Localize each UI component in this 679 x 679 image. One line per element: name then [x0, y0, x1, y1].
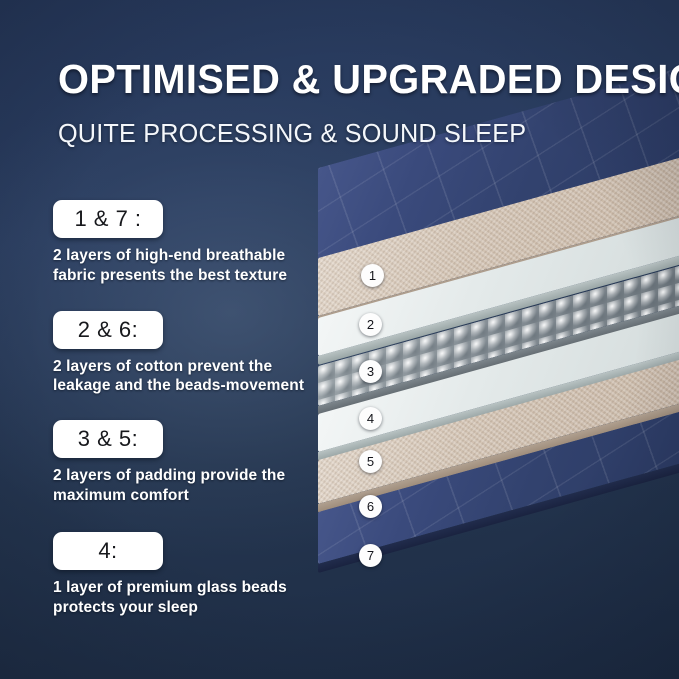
callout-2-description: 2 layers of cotton prevent the leakage a… [53, 357, 323, 397]
layer-badge-3: 3 [359, 360, 382, 383]
callout-2-label: 2 & 6: [78, 319, 138, 341]
callout-layers-2-and-6: 2 & 6: 2 layers of cotton prevent the le… [53, 311, 323, 397]
layer-badge-7: 7 [359, 544, 382, 567]
header: OPTIMISED & UPGRADED DESIGN QUITE PROCES… [58, 58, 658, 149]
callout-layers-1-and-7: 1 & 7 : 2 layers of high-end breathable … [53, 200, 323, 286]
callout-2-pill: 2 & 6: [53, 311, 163, 349]
callout-layers-3-and-5: 3 & 5: 2 layers of padding provide the m… [53, 420, 323, 506]
callout-1-description: 2 layers of high-end breathable fabric p… [53, 246, 323, 286]
page-subtitle: QUITE PROCESSING & SOUND SLEEP [58, 118, 640, 149]
layer-badge-5: 5 [359, 450, 382, 473]
callout-4-description: 1 layer of premium glass beads protects … [53, 578, 323, 618]
layer-badge-1: 1 [361, 264, 384, 287]
product-infographic: 1 2 3 4 5 6 7 OPTIMISED & UPGRADED DESIG… [0, 0, 679, 679]
callout-1-pill: 1 & 7 : [53, 200, 163, 238]
callout-1-label: 1 & 7 : [74, 208, 141, 230]
callout-4-pill: 4: [53, 532, 163, 570]
callout-4-label: 4: [98, 540, 117, 562]
layer-badge-6: 6 [359, 495, 382, 518]
callout-3-pill: 3 & 5: [53, 420, 163, 458]
callout-3-description: 2 layers of padding provide the maximum … [53, 466, 323, 506]
callout-layer-4: 4: 1 layer of premium glass beads protec… [53, 532, 323, 618]
page-title: OPTIMISED & UPGRADED DESIGN [58, 58, 640, 101]
callout-3-label: 3 & 5: [78, 428, 138, 450]
layer-badge-4: 4 [359, 407, 382, 430]
callout-list: 1 & 7 : 2 layers of high-end breathable … [53, 200, 323, 618]
layer-badge-2: 2 [359, 313, 382, 336]
